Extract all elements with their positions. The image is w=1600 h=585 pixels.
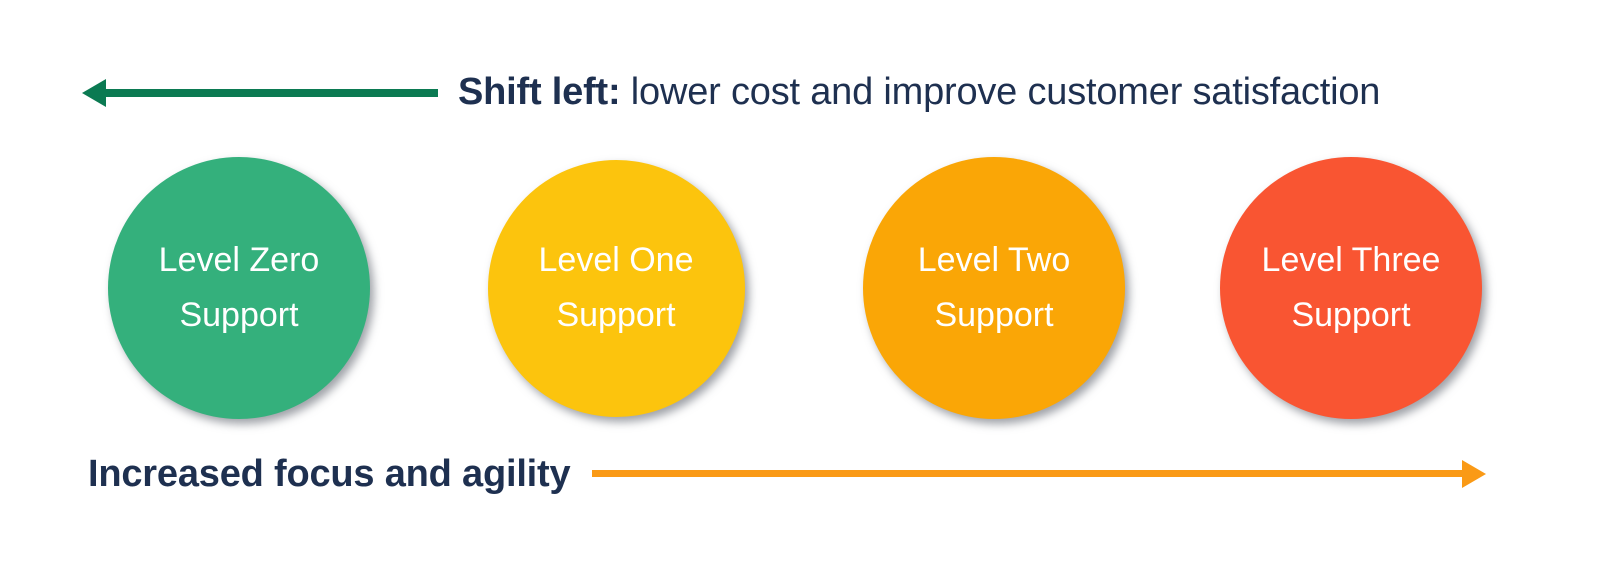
shift-left-caption: Shift left: lower cost and improve custo… bbox=[458, 73, 1380, 113]
support-levels-diagram: Shift left: lower cost and improve custo… bbox=[0, 0, 1600, 585]
level-three-label-line2: Support bbox=[1291, 288, 1410, 343]
shift-left-caption-rest: lower cost and improve customer satisfac… bbox=[620, 71, 1380, 113]
support-level-circles: Level Zero Support Level One Support Lev… bbox=[0, 157, 1600, 422]
arrow-right-head bbox=[1462, 460, 1486, 488]
level-zero-label-line1: Level Zero bbox=[159, 233, 320, 288]
increased-agility-arrow-icon bbox=[592, 457, 1486, 491]
shift-left-caption-bold: Shift left: bbox=[458, 71, 620, 113]
level-two-label-line1: Level Two bbox=[918, 233, 1070, 288]
arrow-right-shaft bbox=[592, 470, 1465, 477]
level-three-label-line1: Level Three bbox=[1262, 233, 1441, 288]
arrow-left-shaft bbox=[103, 89, 438, 97]
increased-agility-row: Increased focus and agility bbox=[0, 444, 1600, 504]
level-one-label-line2: Support bbox=[556, 288, 675, 343]
level-one-circle[interactable]: Level One Support bbox=[488, 160, 745, 417]
level-two-circle[interactable]: Level Two Support bbox=[863, 157, 1125, 419]
level-two-label-line2: Support bbox=[934, 288, 1053, 343]
increased-agility-caption: Increased focus and agility bbox=[88, 453, 570, 496]
level-three-circle[interactable]: Level Three Support bbox=[1220, 157, 1482, 419]
shift-left-row: Shift left: lower cost and improve custo… bbox=[0, 62, 1600, 124]
level-one-label-line1: Level One bbox=[539, 233, 694, 288]
level-zero-label-line2: Support bbox=[179, 288, 298, 343]
level-zero-circle[interactable]: Level Zero Support bbox=[108, 157, 370, 419]
shift-left-arrow-icon bbox=[82, 76, 438, 110]
